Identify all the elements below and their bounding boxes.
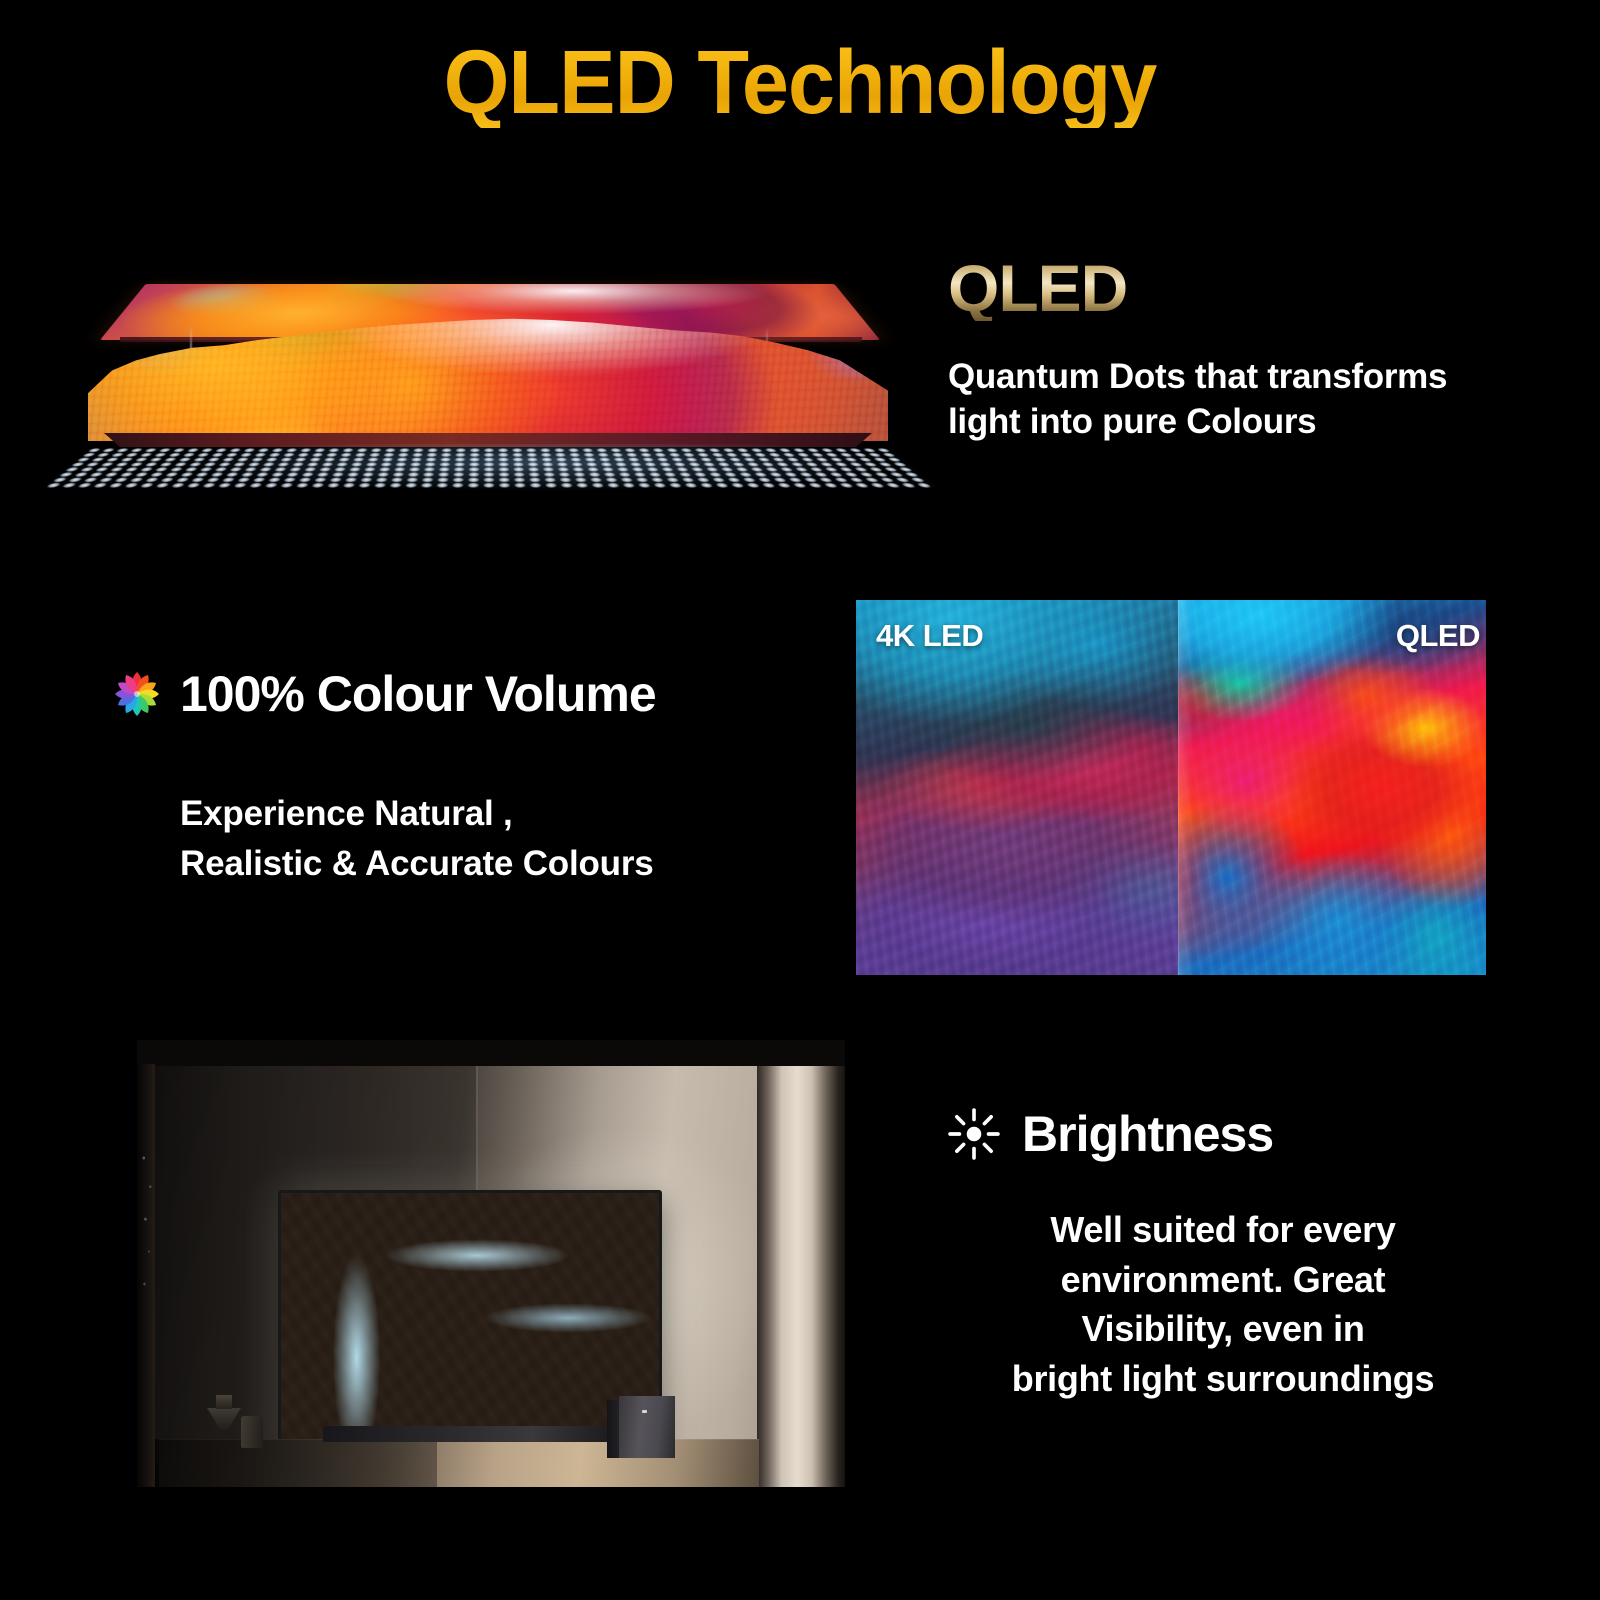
colour-wheel-flower-icon <box>112 669 162 719</box>
brightness-description-line-2: environment. Great <box>948 1255 1498 1305</box>
colour-volume-description-line-2: Realistic & Accurate Colours <box>180 839 812 889</box>
exploded-panel-stack-visual <box>82 205 900 535</box>
mini-led-backlight-layer <box>43 448 938 488</box>
colour-volume-heading: 100% Colour Volume <box>180 665 656 723</box>
brightness-heading: Brightness <box>1022 1105 1273 1163</box>
living-room-tv-scene <box>137 1040 845 1487</box>
quantum-dot-terrain <box>88 315 888 441</box>
brightness-description-line-4: bright light surroundings <box>948 1354 1498 1404</box>
room-left-sparkles <box>139 1140 155 1320</box>
page-title: QLED Technology <box>48 38 1552 128</box>
qled-logo: QLED <box>948 255 1127 321</box>
comparison-label-4k-led: 4K LED <box>876 618 983 654</box>
room-ceiling-shadow <box>137 1040 845 1066</box>
qled-feature-description: Quantum Dots that transforms light into … <box>948 355 1548 445</box>
comparison-divider-gloss <box>1179 600 1193 975</box>
terrain-texture-cross <box>88 315 888 441</box>
room-pillar <box>757 1064 845 1487</box>
quantum-dot-layer <box>88 315 888 450</box>
colour-volume-description-line-1: Experience Natural , <box>180 789 812 839</box>
qled-description-line-1: Quantum Dots that transforms <box>948 355 1548 400</box>
qled-wave-art <box>1178 600 1486 975</box>
comparison-label-qled: QLED <box>1396 618 1480 654</box>
qled-description-line-2: light into pure Colours <box>948 400 1548 445</box>
comparison-left-half <box>856 600 1178 975</box>
4k-led-wave-art <box>856 600 1178 975</box>
brightness-feature-text: Brightness Well suited for every environ… <box>948 1105 1508 1404</box>
led-vs-qled-comparison-image: 4K LED QLED <box>856 600 1486 975</box>
subwoofer <box>619 1396 675 1458</box>
media-console-shadow <box>137 1439 437 1487</box>
decor-cone-vase-top <box>216 1395 232 1409</box>
comparison-right-half <box>1178 600 1486 975</box>
colour-volume-description: Experience Natural , Realistic & Accurat… <box>180 789 812 888</box>
brightness-heading-row: Brightness <box>948 1105 1508 1163</box>
led-dot-grid <box>43 448 938 488</box>
qled-feature-text: QLED Quantum Dots that transforms light … <box>948 255 1548 445</box>
sun-brightness-icon <box>948 1108 1000 1160</box>
decor-jar <box>241 1416 263 1448</box>
brightness-description-line-3: Visibility, even in <box>948 1304 1498 1354</box>
brightness-description: Well suited for every environment. Great… <box>948 1205 1508 1404</box>
brightness-description-line-1: Well suited for every <box>948 1205 1498 1255</box>
colour-volume-feature-text: 100% Colour Volume Experience Natural , … <box>112 665 812 888</box>
qled-technology-infographic: QLED Technology <box>0 0 1600 1600</box>
soundbar <box>323 1426 613 1442</box>
subwoofer-led-indicator <box>642 1410 647 1413</box>
colour-volume-heading-row: 100% Colour Volume <box>112 665 812 723</box>
